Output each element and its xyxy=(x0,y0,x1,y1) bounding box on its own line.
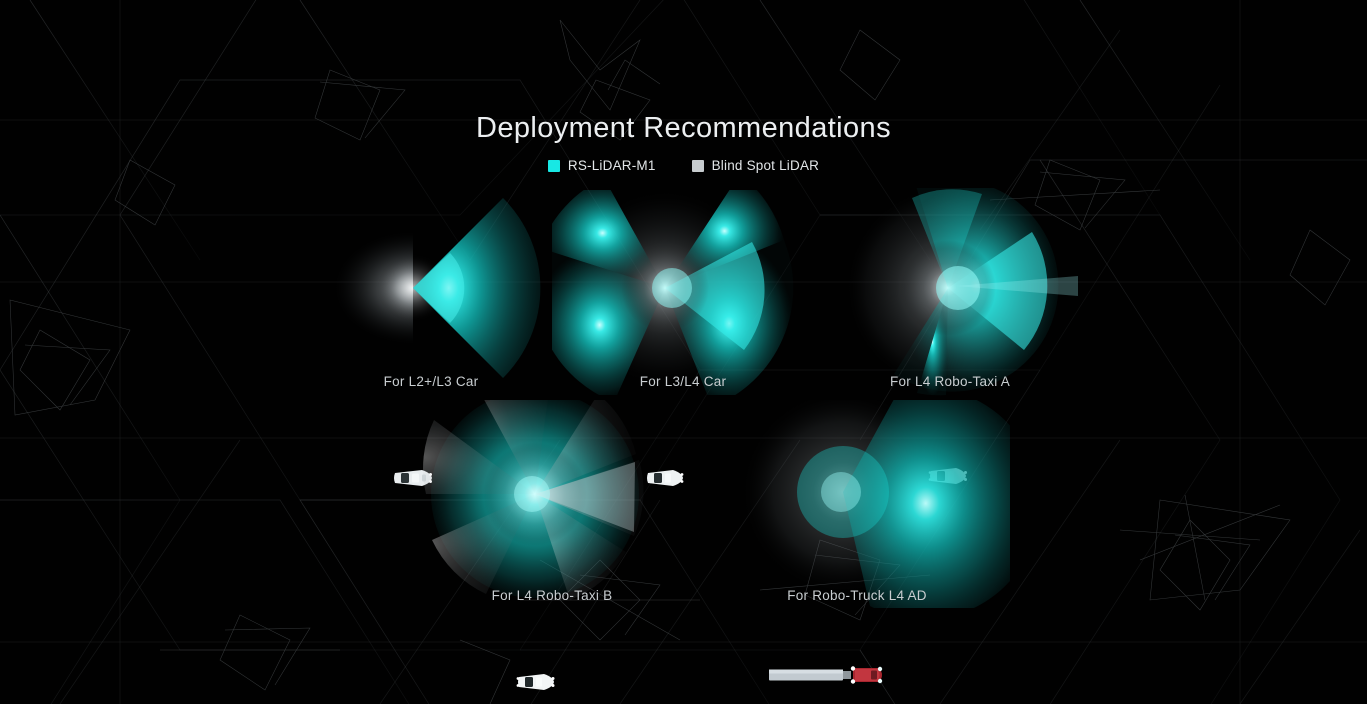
legend-item-blind-spot-lidar: Blind Spot LiDAR xyxy=(692,158,820,173)
vehicle-truck-icon xyxy=(767,664,895,686)
legend: RS-LiDAR-M1 Blind Spot LiDAR xyxy=(0,158,1367,173)
diagram-caption: For L2+/L3 Car xyxy=(384,374,479,389)
center-bloom xyxy=(514,476,550,512)
page-title: Deployment Recommendations xyxy=(0,0,1367,143)
diagram-l2-l3-car: For L2+/L3 Car xyxy=(300,190,565,405)
coverage-scene xyxy=(735,400,1010,608)
center-bloom xyxy=(652,268,692,308)
legend-label: Blind Spot LiDAR xyxy=(712,158,820,173)
coverage-scene xyxy=(816,188,1086,396)
diagram-caption: For L4 Robo-Taxi B xyxy=(492,588,613,603)
diagram-l4-robo-taxi-b: For L4 Robo-Taxi B xyxy=(420,400,690,618)
diagram-robo-truck-l4-ad: For Robo-Truck L4 AD xyxy=(735,400,1010,618)
coverage-scene xyxy=(300,190,565,395)
square-swatch-icon xyxy=(548,160,560,172)
header: Deployment Recommendations RS-LiDAR-M1 B… xyxy=(0,0,1367,173)
legend-label: RS-LiDAR-M1 xyxy=(568,158,656,173)
diagram-caption: For L3/L4 Car xyxy=(640,374,727,389)
diagram-caption: For L4 Robo-Taxi A xyxy=(890,374,1010,389)
diagram-l3-l4-car: For L3/L4 Car xyxy=(552,190,817,405)
center-core xyxy=(821,472,861,512)
coverage-scene xyxy=(552,190,817,395)
coverage-scene xyxy=(420,400,690,608)
legend-item-rs-lidar-m1: RS-LiDAR-M1 xyxy=(548,158,656,173)
square-swatch-icon xyxy=(692,160,704,172)
vehicle-car-icon xyxy=(513,670,557,694)
diagram-l4-robo-taxi-a: For L4 Robo-Taxi A xyxy=(816,188,1086,406)
center-bloom xyxy=(936,266,980,310)
slide-canvas: Deployment Recommendations RS-LiDAR-M1 B… xyxy=(0,0,1367,704)
diagram-caption: For Robo-Truck L4 AD xyxy=(787,588,927,603)
